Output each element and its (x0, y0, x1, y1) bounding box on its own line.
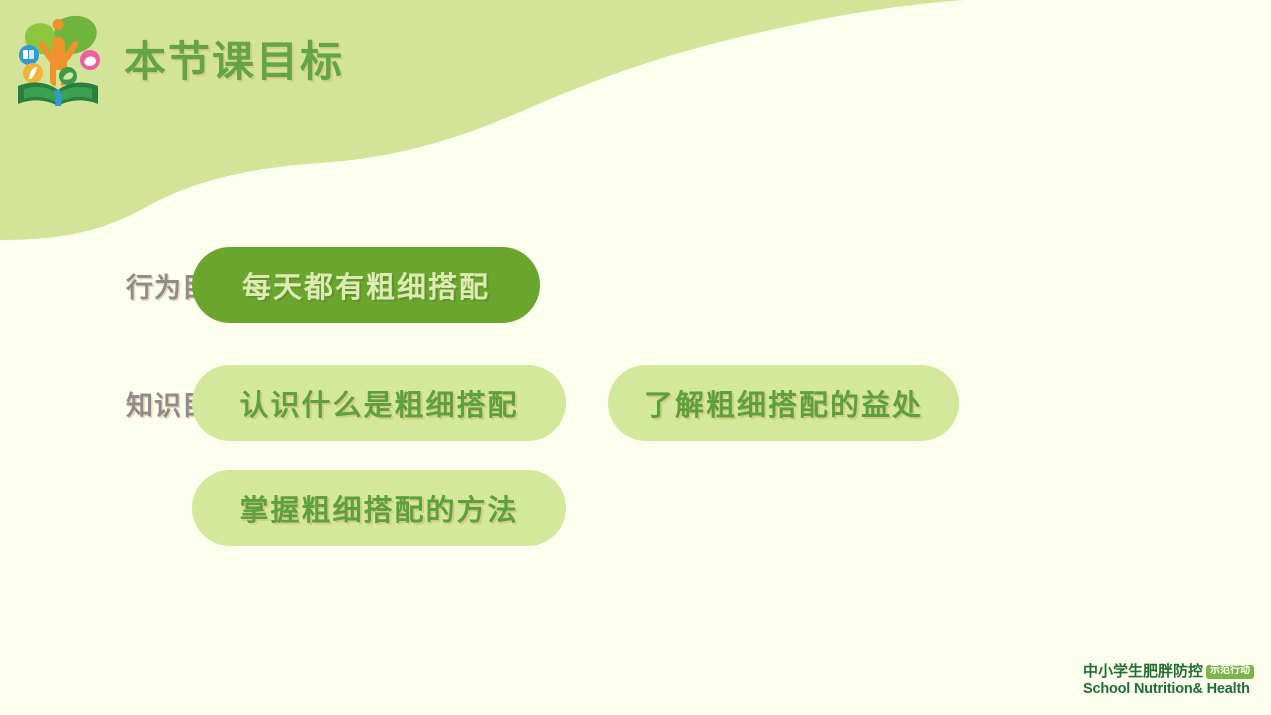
brand-chinese-line: 中小学生肥胖防控 示范行动 (1083, 664, 1254, 680)
goal-pill-knowledge-2[interactable]: 了解粗细搭配的益处 (608, 365, 959, 441)
goal-pill-knowledge-1[interactable]: 认识什么是粗细搭配 (192, 365, 566, 441)
page-title: 本节课目标 (124, 28, 344, 89)
goal-pill-behavior-1[interactable]: 每天都有粗细搭配 (192, 247, 540, 323)
goal-row-behavior: 行为目标 每天都有粗细搭配 (0, 247, 1271, 323)
goal-pill-knowledge-3[interactable]: 掌握粗细搭配的方法 (192, 470, 566, 546)
sprout-book-logo-icon (12, 10, 104, 108)
goal-row-label-knowledge: 知识目标 (0, 384, 162, 423)
brand-badge: 示范行动 (1206, 665, 1254, 679)
footer-brand-lockup: 中小学生肥胖防控 示范行动 School Nutrition& Health (1083, 664, 1254, 697)
goal-row-knowledge: 知识目标 认识什么是粗细搭配 了解粗细搭配的益处 (0, 365, 1271, 441)
slide-header: 本节课目标 (0, 0, 1271, 118)
goal-row-label-behavior: 行为目标 (0, 266, 162, 305)
goal-row-knowledge-second: 掌握粗细搭配的方法 (0, 470, 1271, 546)
brand-name-cn: 中小学生肥胖防控 (1083, 664, 1203, 680)
slide-canvas: 本节课目标 行为目标 每天都有粗细搭配 知识目标 认识什么是粗细搭配 了解粗细搭… (0, 0, 1271, 715)
brand-name-en: School Nutrition& Health (1083, 682, 1254, 697)
